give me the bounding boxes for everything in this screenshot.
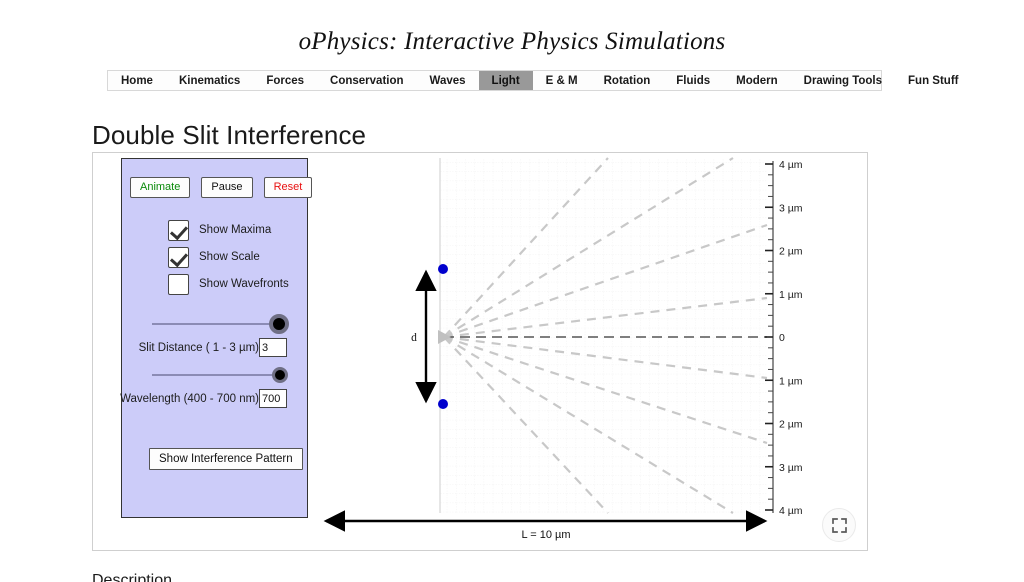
reset-button[interactable]: Reset — [264, 177, 313, 198]
checkbox-group: Show Maxima Show Scale Show Wavefronts — [168, 217, 289, 298]
scale-tick-label: 0 — [779, 332, 785, 344]
checkbox-row-show-scale[interactable]: Show Scale — [168, 244, 289, 270]
wavelength-slider-handle[interactable] — [272, 367, 288, 383]
simulation-canvas: d 4 µm3 µm2 µm1 µm01 µm2 µm3 µm4 µm L = … — [318, 153, 868, 552]
page-title: Double Slit Interference — [92, 120, 366, 151]
show-scale-label: Show Scale — [199, 251, 260, 263]
nav-item-waves[interactable]: Waves — [417, 71, 479, 90]
slit-distance-input[interactable] — [259, 338, 287, 357]
nav-item-modern[interactable]: Modern — [723, 71, 791, 90]
scale-tick-label: 3 µm — [779, 462, 803, 474]
scale-tick-label: 2 µm — [779, 419, 803, 431]
scale-tick-label: 1 µm — [779, 375, 803, 387]
plot-grid — [440, 158, 767, 513]
slit-distance-label: Slit Distance ( 1 - 3 µm) — [139, 342, 259, 354]
nav-item-e-m[interactable]: E & M — [533, 71, 591, 90]
scale-tick-label: 1 µm — [779, 289, 803, 301]
simulation-stage: d 4 µm3 µm2 µm1 µm01 µm2 µm3 µm4 µm L = … — [318, 153, 868, 552]
show-wavefronts-checkbox[interactable] — [168, 274, 189, 295]
control-panel: Animate Pause Reset Show Maxima Show Sca… — [121, 158, 308, 518]
show-scale-checkbox[interactable] — [168, 247, 189, 268]
slit-separation-label: d — [411, 332, 417, 344]
vertical-scale-axis: 4 µm3 µm2 µm1 µm01 µm2 µm3 µm4 µm — [765, 159, 803, 517]
slit-separation-indicator: d — [411, 272, 426, 401]
nav-item-conservation[interactable]: Conservation — [317, 71, 417, 90]
scale-tick-label: 4 µm — [779, 505, 803, 517]
simulation-frame: Animate Pause Reset Show Maxima Show Sca… — [92, 152, 868, 551]
scale-tick-label: 4 µm — [779, 159, 803, 171]
show-interference-pattern-button[interactable]: Show Interference Pattern — [149, 448, 303, 470]
description-heading: Description — [92, 572, 172, 582]
checkbox-row-show-wavefronts[interactable]: Show Wavefronts — [168, 271, 289, 297]
show-maxima-checkbox[interactable] — [168, 220, 189, 241]
scale-tick-label: 2 µm — [779, 246, 803, 258]
nav-item-rotation[interactable]: Rotation — [591, 71, 664, 90]
show-wavefronts-label: Show Wavefronts — [199, 278, 289, 290]
page-root: oPhysics: Interactive Physics Simulation… — [0, 0, 1024, 582]
nav-item-home[interactable]: Home — [108, 71, 166, 90]
pause-button[interactable]: Pause — [201, 177, 252, 198]
nav-item-fluids[interactable]: Fluids — [663, 71, 723, 90]
main-navigation: HomeKinematicsForcesConservationWavesLig… — [107, 70, 882, 91]
screen-distance-indicator: L = 10 µm — [326, 521, 765, 541]
wavelength-label: Wavelength (400 - 700 nm) — [120, 393, 259, 405]
scale-tick-label: 3 µm — [779, 202, 803, 214]
slit-marker-bottom[interactable] — [438, 399, 448, 409]
animate-button[interactable]: Animate — [130, 177, 190, 198]
nav-item-forces[interactable]: Forces — [253, 71, 317, 90]
nav-item-kinematics[interactable]: Kinematics — [166, 71, 253, 90]
nav-item-light[interactable]: Light — [479, 71, 533, 90]
slit-distance-slider-handle[interactable] — [269, 314, 289, 334]
wavelength-input[interactable] — [259, 389, 287, 408]
checkbox-row-show-maxima[interactable]: Show Maxima — [168, 217, 289, 243]
wavelength-slider-track[interactable] — [152, 374, 282, 376]
playback-button-row: Animate Pause Reset — [130, 177, 312, 198]
fullscreen-button[interactable] — [822, 508, 856, 542]
slit-marker-top[interactable] — [438, 264, 448, 274]
show-maxima-label: Show Maxima — [199, 224, 271, 236]
screen-distance-label: L = 10 µm — [521, 529, 570, 541]
nav-item-fun-stuff[interactable]: Fun Stuff — [895, 71, 971, 90]
fullscreen-icon — [832, 518, 847, 533]
site-title: oPhysics: Interactive Physics Simulation… — [0, 28, 1024, 56]
wavelength-field-row: Wavelength (400 - 700 nm) — [122, 389, 309, 408]
slit-distance-slider-track[interactable] — [152, 323, 277, 325]
nav-item-drawing-tools[interactable]: Drawing Tools — [791, 71, 895, 90]
slit-distance-field-row: Slit Distance ( 1 - 3 µm) — [122, 338, 309, 357]
